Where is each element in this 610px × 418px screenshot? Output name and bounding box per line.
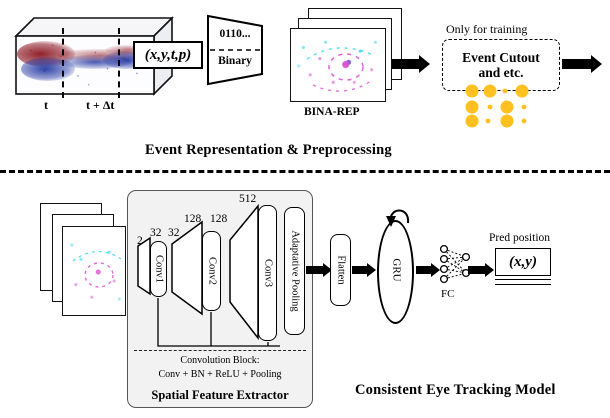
pred-position-box: (x,y) (495, 248, 551, 276)
voxel-time-start-label: t (44, 98, 48, 113)
conv1-block: Conv1 (150, 241, 167, 297)
conv3-label: Conv3 (262, 259, 273, 287)
bina-rep-iris-arcs (291, 29, 386, 102)
flatten-block: Flatten (330, 234, 351, 306)
gru-label: GRU (391, 252, 403, 289)
flatten-label: Flatten (335, 255, 346, 284)
pred-position-stack-line-1 (495, 279, 551, 280)
conv1-label: Conv1 (153, 255, 164, 283)
conv-block-leader-lines (130, 290, 310, 352)
event-cutout-line2: and etc. (479, 65, 524, 80)
input-frame-iris-arcs (63, 227, 126, 316)
panel-inner-divider (134, 350, 306, 351)
pred-position-stack-line-2 (495, 284, 551, 285)
bina-rep-frame-front (290, 28, 386, 102)
binary-encoder-block: 0110... Binary (204, 14, 266, 86)
pred-position-value: (x,y) (509, 254, 537, 271)
fc-label: FC (441, 288, 454, 300)
pred-position-caption: Pred position (489, 232, 550, 244)
arrow-pooling-to-flatten (306, 263, 332, 277)
binary-bits-label: 0110... (204, 28, 266, 40)
voxel-time-slice-line-1 (62, 28, 64, 98)
spatial-feature-extractor-title: Spatial Feature Extractor (127, 388, 313, 403)
convolution-block-caption-line1: Convolution Block: (134, 355, 306, 368)
cutout-dot-grid (462, 84, 542, 128)
gru-recurrent-loop-icon (382, 203, 416, 229)
section-title-bottom: Consistent Eye Tracking Model (355, 382, 556, 399)
event-tuple-box: (x,y,t,p) (133, 41, 203, 69)
voxel-time-slice-line-2 (118, 28, 120, 98)
conv2-label: Conv2 (206, 257, 217, 285)
bina-rep-label: BINA-REP (304, 106, 360, 118)
arrow-gru-to-fc (416, 263, 440, 277)
input-frame-front-main (62, 226, 126, 316)
binary-name-label: Binary (204, 55, 266, 67)
section-title-top: Event Representation & Preprocessing (145, 142, 392, 159)
arrow-augment-out (562, 55, 604, 73)
arrow-binarep-to-augment (392, 55, 430, 73)
section-divider (0, 170, 610, 173)
convolution-block-caption-line2: Conv + BN + ReLU + Pooling (130, 369, 310, 382)
trapezoid-shape (204, 14, 266, 86)
voxel-time-end-label: t + Δt (86, 98, 114, 113)
arrow-flatten-to-gru (352, 263, 376, 277)
event-tuple-label: (x,y,t,p) (145, 47, 192, 64)
event-cutout-line1: Event Cutout (462, 50, 540, 65)
arrow-fc-to-pred (468, 263, 494, 277)
augment-caption-above: Only for training (446, 22, 527, 37)
